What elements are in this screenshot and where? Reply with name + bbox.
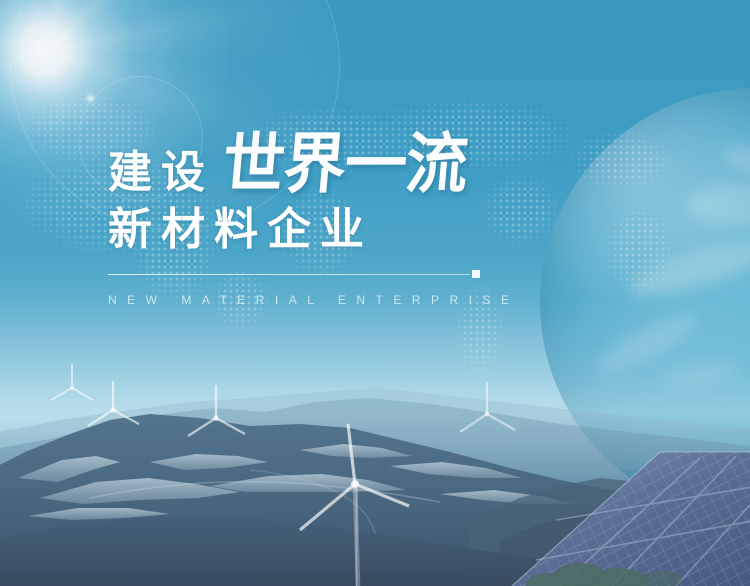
headline-emphasis: 世界一流	[220, 132, 470, 198]
headline-block: 建设 世界一流 新材料企业 NEW MATERIAL ENTERPRISE	[108, 126, 528, 306]
headline-prefix: 建设	[108, 151, 214, 198]
divider-square-marker	[472, 270, 480, 278]
subtitle-english: NEW MATERIAL ENTERPRISE	[108, 294, 528, 306]
divider-line	[108, 274, 470, 275]
headline-line-2: 新材料企业	[108, 206, 528, 254]
divider	[108, 270, 480, 278]
headline-line-1: 建设 世界一流	[108, 126, 528, 198]
hero-banner: 建设 世界一流 新材料企业 NEW MATERIAL ENTERPRISE	[0, 0, 750, 586]
